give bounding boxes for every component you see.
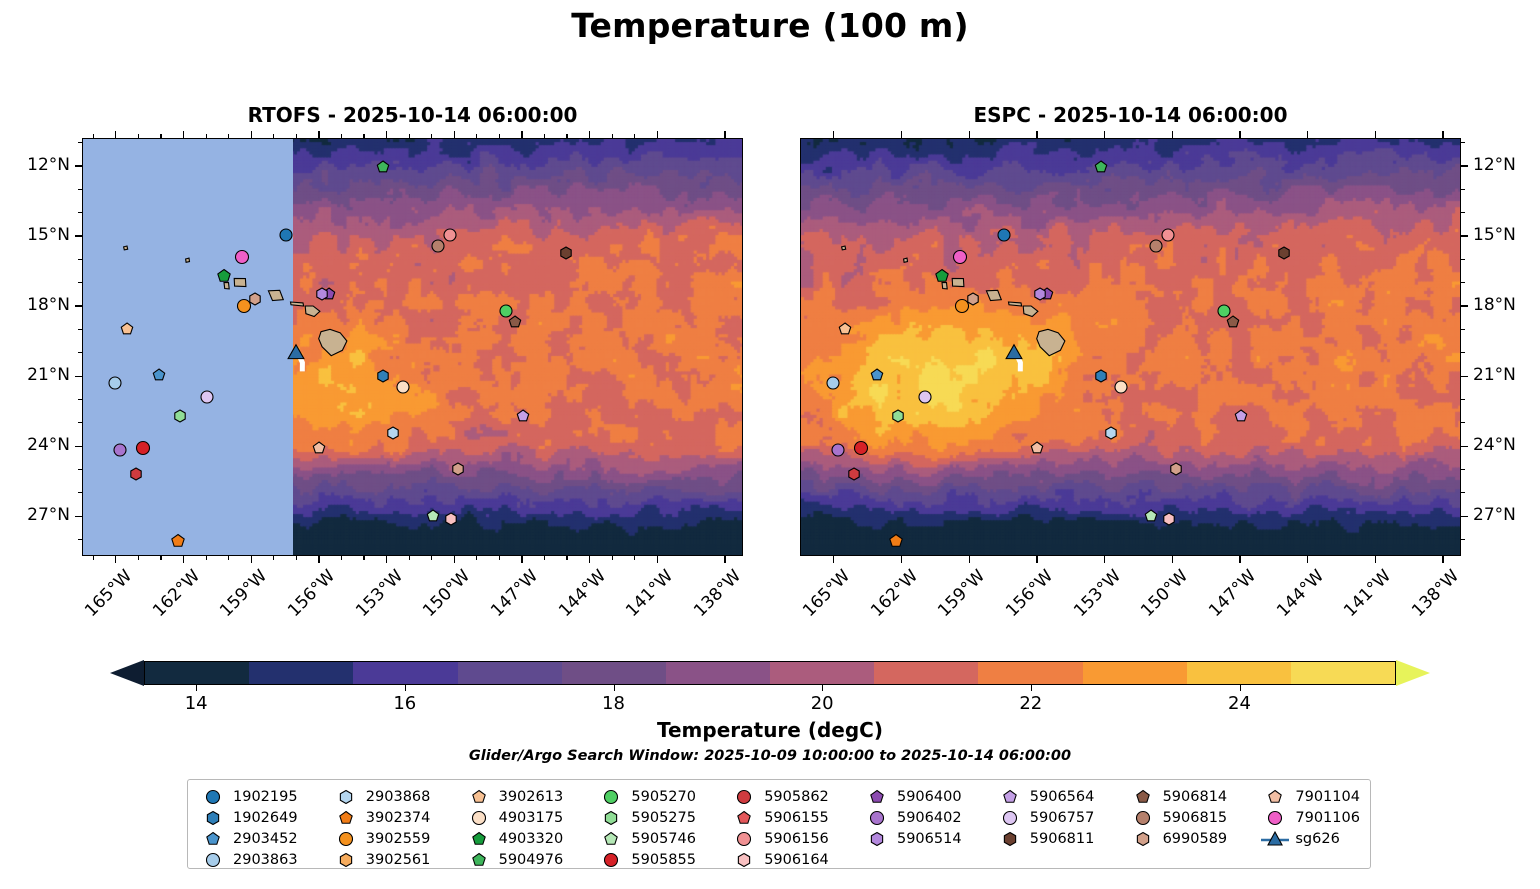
- legend-marker-circle-icon: [995, 808, 1025, 827]
- legend-label: 5905862: [759, 789, 829, 805]
- legend-marker-circle-icon: [729, 829, 759, 848]
- xtick: [454, 556, 455, 563]
- xtick-top: [589, 131, 590, 138]
- legend-item-4903320[interactable]: 4903320: [464, 829, 564, 848]
- marker-sg626[interactable]: [1005, 344, 1023, 362]
- xtick-minor-top: [499, 134, 500, 138]
- marker-7901106[interactable]: [234, 249, 250, 265]
- marker-5906564[interactable]: [1233, 408, 1248, 423]
- xtick-top: [833, 131, 834, 138]
- xtick-top: [115, 131, 116, 138]
- marker-5905855[interactable]: [135, 440, 151, 456]
- ytick-minor: [1461, 259, 1465, 260]
- ytick-minor: [78, 422, 82, 423]
- colorbar-label: Temperature (degC): [0, 718, 1540, 742]
- legend-marker-circle-icon: [198, 787, 228, 806]
- marker-3902613[interactable]: [120, 322, 135, 337]
- ytick-label: 27°N: [1473, 505, 1516, 525]
- xtick-minor-top: [363, 134, 364, 138]
- legend-label: 5905855: [626, 852, 696, 868]
- marker-2903863[interactable]: [825, 376, 840, 391]
- legend-column-3: 5905270590527559057465905855: [596, 787, 696, 868]
- legend-marker-hexagon-icon: [1128, 829, 1158, 848]
- colorbar-band-5: [666, 662, 770, 684]
- ytick: [75, 446, 82, 447]
- ytick-label: 15°N: [0, 225, 70, 245]
- legend-label: 7901106: [1290, 810, 1360, 826]
- ytick-label: 12°N: [0, 155, 70, 175]
- ytick: [75, 165, 82, 166]
- xtick-label: 147°W: [1205, 566, 1260, 621]
- legend-label: 5906514: [892, 831, 962, 847]
- legend-marker-pentagon-icon: [729, 808, 759, 827]
- legend-marker-pentagon-icon: [464, 829, 494, 848]
- marker-5906811[interactable]: [1276, 246, 1291, 261]
- marker-5906815[interactable]: [431, 239, 446, 254]
- legend-label: 2903863: [228, 852, 298, 868]
- legend-item-5906514[interactable]: 5906514: [862, 829, 962, 848]
- ytick-minor: [1461, 539, 1465, 540]
- xtick-top: [183, 131, 184, 138]
- legend-item-3902559[interactable]: 3902559: [331, 829, 431, 848]
- xtick-label: 153°W: [352, 566, 407, 621]
- marker-1902649[interactable]: [376, 369, 391, 384]
- ytick-minor: [1461, 212, 1465, 213]
- marker-5904976[interactable]: [376, 160, 391, 175]
- legend-label: sg626: [1290, 831, 1339, 847]
- legend-label: 5906164: [759, 852, 829, 868]
- legend-label: 5904976: [494, 852, 564, 868]
- legend-item-3902613[interactable]: 3902613: [464, 787, 564, 806]
- marker-5905746[interactable]: [1143, 509, 1158, 524]
- xtick: [1307, 556, 1308, 563]
- legend-item-5906564[interactable]: 5906564: [995, 787, 1095, 806]
- marker-5905855[interactable]: [853, 440, 869, 456]
- ytick: [75, 376, 82, 377]
- xtick-minor-top: [476, 134, 477, 138]
- map-panel-rtofs[interactable]: [82, 138, 743, 556]
- legend-item-5905270[interactable]: 5905270: [596, 787, 696, 806]
- colorbar-tick-label: 20: [811, 693, 834, 714]
- colorbar-band-4: [562, 662, 666, 684]
- legend-label: 2903868: [361, 789, 431, 805]
- xtick-label: 162°W: [149, 566, 204, 621]
- xtick-minor: [93, 556, 94, 560]
- xtick-minor-top: [160, 134, 161, 138]
- hawaii-landmass: [83, 139, 743, 556]
- ytick: [1461, 235, 1468, 236]
- marker-5905862[interactable]: [129, 467, 144, 482]
- legend-item-7901106[interactable]: 7901106: [1260, 808, 1360, 827]
- panel-title-espc: ESPC - 2025-10-14 06:00:00: [800, 103, 1461, 127]
- legend-item-5906400[interactable]: 5906400: [862, 787, 962, 806]
- legend-item-5906155[interactable]: 5906155: [729, 808, 829, 827]
- legend-label: 5905275: [626, 810, 696, 826]
- colorbar-tick: [614, 685, 615, 691]
- xtick-top: [521, 131, 522, 138]
- xtick-minor-top: [566, 134, 567, 138]
- xtick-top: [724, 131, 725, 138]
- marker-2903868[interactable]: [386, 426, 401, 441]
- legend-label: 4903175: [494, 810, 564, 826]
- xtick-label: 144°W: [555, 566, 610, 621]
- xtick-top: [1239, 131, 1240, 138]
- marker-5905275[interactable]: [173, 408, 188, 423]
- marker-6990589[interactable]: [450, 462, 465, 477]
- legend-item-1902649[interactable]: 1902649: [198, 808, 298, 827]
- colorbar-cap-high: [1396, 660, 1430, 686]
- xtick: [521, 556, 522, 563]
- ytick-minor: [1461, 142, 1465, 143]
- ytick-label: 12°N: [1473, 155, 1516, 175]
- ytick-minor: [78, 539, 82, 540]
- colorbar-tick-label: 18: [602, 693, 625, 714]
- ytick-minor: [1461, 399, 1465, 400]
- marker-1902649[interactable]: [1094, 369, 1109, 384]
- legend-label: 4903320: [494, 831, 564, 847]
- legend-item-3902374[interactable]: 3902374: [331, 808, 431, 827]
- marker-5906402[interactable]: [831, 442, 846, 457]
- xtick-minor: [612, 556, 613, 560]
- legend-label: 5905270: [626, 789, 696, 805]
- colorbar-tick: [822, 685, 823, 691]
- legend-label: 5905746: [626, 831, 696, 847]
- legend-item-5906402[interactable]: 5906402: [862, 808, 962, 827]
- marker-2903452[interactable]: [151, 367, 166, 382]
- legend-item-2903452[interactable]: 2903452: [198, 829, 298, 848]
- legend-label: 1902649: [228, 810, 298, 826]
- legend-marker-circle-icon: [1128, 808, 1158, 827]
- legend-column-1: 2903868390237439025593902561: [331, 787, 431, 868]
- ytick-minor: [1461, 189, 1465, 190]
- xtick: [901, 556, 902, 563]
- legend-item-4903175[interactable]: 4903175: [464, 808, 564, 827]
- legend-marker-hexagon-icon: [862, 829, 892, 848]
- legend-label: 3902561: [361, 852, 431, 868]
- xtick-minor-top: [341, 134, 342, 138]
- legend-item-5906156[interactable]: 5906156: [729, 829, 829, 848]
- legend-column-6: 590656459067575906811: [995, 787, 1095, 868]
- xtick-top: [251, 131, 252, 138]
- ytick: [1461, 305, 1468, 306]
- legend-marker-circle-icon: [464, 808, 494, 827]
- xtick-minor: [296, 556, 297, 560]
- xtick-label: 165°W: [81, 566, 136, 621]
- legend-item-sg626[interactable]: sg626: [1260, 829, 1360, 848]
- xtick: [1239, 556, 1240, 563]
- legend-label: 3902374: [361, 810, 431, 826]
- legend-label: 5906400: [892, 789, 962, 805]
- marker-5906814[interactable]: [508, 315, 523, 330]
- marker-1902195[interactable]: [997, 227, 1012, 242]
- marker-5904976[interactable]: [1094, 160, 1109, 175]
- xtick-label: 141°W: [622, 566, 677, 621]
- ytick-minor: [78, 189, 82, 190]
- legend-item-5906814[interactable]: 5906814: [1128, 787, 1228, 806]
- xtick-top: [1307, 131, 1308, 138]
- ytick: [75, 516, 82, 517]
- xtick: [251, 556, 252, 563]
- marker-5906164[interactable]: [1161, 511, 1176, 526]
- xtick-label: 153°W: [1070, 566, 1125, 621]
- marker-5905275[interactable]: [891, 408, 906, 423]
- legend-marker-pentagon-icon: [331, 808, 361, 827]
- colorbar-cap-low: [110, 660, 144, 686]
- marker-2903452[interactable]: [869, 367, 884, 382]
- ytick-label: 21°N: [0, 365, 70, 385]
- marker-1902195[interactable]: [279, 227, 294, 242]
- legend-label: 6990589: [1158, 831, 1228, 847]
- xtick: [589, 556, 590, 563]
- marker-2903868[interactable]: [1104, 426, 1119, 441]
- xtick-label: 165°W: [799, 566, 854, 621]
- legend-item-2903868[interactable]: 2903868: [331, 787, 431, 806]
- legend-column-7: 590681459068156990589: [1128, 787, 1228, 868]
- xtick: [657, 556, 658, 563]
- legend-label: 5906811: [1025, 831, 1095, 847]
- marker-5905862[interactable]: [847, 467, 862, 482]
- legend-marker-hexagon-icon: [995, 829, 1025, 848]
- xtick: [1172, 556, 1173, 563]
- marker-5905746[interactable]: [425, 509, 440, 524]
- xtick-top: [454, 131, 455, 138]
- legend-marker-hexagon-icon: [331, 787, 361, 806]
- ytick: [1461, 165, 1468, 166]
- xtick-top: [969, 131, 970, 138]
- ytick-minor: [78, 469, 82, 470]
- marker-5906815[interactable]: [1149, 239, 1164, 254]
- marker-5906402[interactable]: [113, 442, 128, 457]
- legend-label: 5906156: [759, 831, 829, 847]
- marker-6990589b[interactable]: [247, 292, 262, 307]
- legend-marker-circle-icon: [331, 829, 361, 848]
- marker-4903320[interactable]: [934, 268, 950, 284]
- xtick-minor: [341, 556, 342, 560]
- legend-item-3902561[interactable]: 3902561: [331, 850, 431, 869]
- xtick: [969, 556, 970, 563]
- legend-marker-pentagon-icon: [1128, 787, 1158, 806]
- xtick-top: [1375, 131, 1376, 138]
- ytick-label: 18°N: [1473, 295, 1516, 315]
- colorbar-tick: [196, 685, 197, 691]
- legend-item-5906164[interactable]: 5906164: [729, 850, 829, 869]
- colorbar-band-7: [874, 662, 978, 684]
- ytick: [1461, 516, 1468, 517]
- xtick-top: [657, 131, 658, 138]
- legend-item-2903863[interactable]: 2903863: [198, 850, 298, 869]
- legend-item-5904976[interactable]: 5904976: [464, 850, 564, 869]
- map-panel-espc[interactable]: [800, 138, 1461, 556]
- xtick-top: [1104, 131, 1105, 138]
- ytick-minor: [1461, 469, 1465, 470]
- ytick-label: 24°N: [0, 435, 70, 455]
- legend-item-5905855[interactable]: 5905855: [596, 850, 696, 869]
- xtick-minor: [273, 556, 274, 560]
- legend-marker-hexagon-icon: [596, 808, 626, 827]
- legend-marker-hexagon-icon: [729, 850, 759, 869]
- legend-item-5906811[interactable]: 5906811: [995, 829, 1095, 848]
- xtick-label: 150°W: [419, 566, 474, 621]
- xtick-label: 144°W: [1273, 566, 1328, 621]
- marker-4903320[interactable]: [216, 268, 232, 284]
- legend-marker-circle-icon: [729, 787, 759, 806]
- xtick-label: 159°W: [216, 566, 271, 621]
- ytick-minor: [1461, 352, 1465, 353]
- ytick-label: 24°N: [1473, 435, 1516, 455]
- xtick-label: 138°W: [690, 566, 745, 621]
- marker-5906757[interactable]: [918, 390, 933, 405]
- ytick-label: 27°N: [0, 505, 70, 525]
- ytick-minor: [78, 282, 82, 283]
- xtick-minor-top: [93, 134, 94, 138]
- xtick-minor: [544, 556, 545, 560]
- legend-column-0: 1902195190264929034522903863: [198, 787, 298, 868]
- legend-item-1902195[interactable]: 1902195: [198, 787, 298, 806]
- xtick-minor-top: [206, 134, 207, 138]
- marker-4903175[interactable]: [396, 379, 411, 394]
- marker-3902613[interactable]: [838, 322, 853, 337]
- legend-marker-pentagon-icon: [464, 787, 494, 806]
- ytick-minor: [78, 142, 82, 143]
- marker-5906757[interactable]: [200, 390, 215, 405]
- page-title: Temperature (100 m): [0, 6, 1540, 45]
- search-window-caption: Glider/Argo Search Window: 2025-10-09 10…: [0, 748, 1540, 764]
- marker-7901104[interactable]: [1029, 441, 1044, 456]
- legend-marker-pentagon-icon: [995, 787, 1025, 806]
- marker-5906564[interactable]: [515, 408, 530, 423]
- marker-5906514[interactable]: [315, 287, 330, 302]
- legend-column-4: 5905862590615559061565906164: [729, 787, 829, 868]
- legend-marker-pentagon-icon: [198, 829, 228, 848]
- legend-item-5905862[interactable]: 5905862: [729, 787, 829, 806]
- xtick: [386, 556, 387, 563]
- ytick: [1461, 376, 1468, 377]
- marker-4903175[interactable]: [1114, 379, 1129, 394]
- xtick-label: 162°W: [867, 566, 922, 621]
- ytick: [1461, 446, 1468, 447]
- marker-7901104[interactable]: [311, 441, 326, 456]
- xtick-minor: [206, 556, 207, 560]
- ytick-minor: [78, 329, 82, 330]
- legend[interactable]: 1902195190264929034522903863290386839023…: [187, 779, 1371, 869]
- ytick-label: 15°N: [1473, 225, 1516, 245]
- hawaii-landmass: [801, 139, 1461, 556]
- ytick: [75, 235, 82, 236]
- legend-marker-circle-icon: [596, 850, 626, 869]
- xtick: [1442, 556, 1443, 563]
- marker-5906814[interactable]: [1226, 315, 1241, 330]
- xtick-label: 141°W: [1340, 566, 1395, 621]
- xtick-minor: [566, 556, 567, 560]
- xtick-minor: [431, 556, 432, 560]
- colorbar-band-10: [1187, 662, 1291, 684]
- ytick: [75, 305, 82, 306]
- panel-title-rtofs: RTOFS - 2025-10-14 06:00:00: [82, 103, 743, 127]
- legend-label: 2903452: [228, 831, 298, 847]
- ytick-label: 21°N: [1473, 365, 1516, 385]
- colorbar-tick: [405, 685, 406, 691]
- legend-label: 5906155: [759, 810, 829, 826]
- xtick-top: [1442, 131, 1443, 138]
- colorbar-bands: [144, 661, 1396, 685]
- xtick-label: 150°W: [1137, 566, 1192, 621]
- colorbar-band-1: [249, 662, 353, 684]
- legend-label: 5906757: [1025, 810, 1095, 826]
- ytick-minor: [1461, 282, 1465, 283]
- legend-label: 3902559: [361, 831, 431, 847]
- ytick-minor: [1461, 329, 1465, 330]
- xtick-minor: [138, 556, 139, 560]
- legend-label: 3902613: [494, 789, 564, 805]
- legend-marker-circle-icon: [1260, 808, 1290, 827]
- ytick-minor: [78, 399, 82, 400]
- legend-item-7901104[interactable]: 7901104: [1260, 787, 1360, 806]
- marker-6990589b[interactable]: [965, 292, 980, 307]
- marker-sg626[interactable]: [287, 344, 305, 362]
- xtick-top: [901, 131, 902, 138]
- legend-item-6990589[interactable]: 6990589: [1128, 829, 1228, 848]
- xtick-minor: [228, 556, 229, 560]
- legend-label: 1902195: [228, 789, 298, 805]
- xtick-top: [1036, 131, 1037, 138]
- xtick: [183, 556, 184, 563]
- ytick-minor: [78, 492, 82, 493]
- xtick-label: 159°W: [934, 566, 989, 621]
- marker-5906164[interactable]: [443, 511, 458, 526]
- marker-5906811[interactable]: [558, 246, 573, 261]
- legend-item-5905275[interactable]: 5905275: [596, 808, 696, 827]
- ytick-minor: [78, 259, 82, 260]
- ytick-minor: [1461, 422, 1465, 423]
- marker-6990589[interactable]: [1168, 462, 1183, 477]
- xtick-minor: [476, 556, 477, 560]
- xtick: [1104, 556, 1105, 563]
- marker-5906514[interactable]: [1033, 287, 1048, 302]
- colorbar-tick-label: 16: [393, 693, 416, 714]
- colorbar-tick-label: 24: [1228, 693, 1251, 714]
- colorbar-tick-label: 22: [1019, 693, 1042, 714]
- legend-marker-hexagon-icon: [331, 850, 361, 869]
- xtick-top: [386, 131, 387, 138]
- xtick-minor: [409, 556, 410, 560]
- xtick-minor: [499, 556, 500, 560]
- legend-marker-circle-icon: [862, 808, 892, 827]
- legend-item-5906815[interactable]: 5906815: [1128, 808, 1228, 827]
- xtick-label: 138°W: [1408, 566, 1463, 621]
- legend-item-5906757[interactable]: 5906757: [995, 808, 1095, 827]
- xtick-top: [1172, 131, 1173, 138]
- ytick-minor: [78, 352, 82, 353]
- ytick-minor: [1461, 492, 1465, 493]
- xtick: [115, 556, 116, 563]
- xtick-minor-top: [138, 134, 139, 138]
- marker-3902374[interactable]: [170, 533, 186, 549]
- legend-item-5905746[interactable]: 5905746: [596, 829, 696, 848]
- colorbar-tick: [1031, 685, 1032, 691]
- marker-7901106[interactable]: [952, 249, 968, 265]
- xtick-top: [318, 131, 319, 138]
- marker-3902374[interactable]: [888, 533, 904, 549]
- legend-marker-triangle-icon: [1260, 829, 1290, 848]
- xtick-minor: [363, 556, 364, 560]
- colorbar-band-8: [978, 662, 1082, 684]
- legend-label: 5906564: [1025, 789, 1095, 805]
- colorbar-band-11: [1291, 662, 1395, 684]
- legend-label: 5906815: [1158, 810, 1228, 826]
- marker-2903863[interactable]: [107, 376, 122, 391]
- colorbar-band-0: [145, 662, 249, 684]
- xtick: [724, 556, 725, 563]
